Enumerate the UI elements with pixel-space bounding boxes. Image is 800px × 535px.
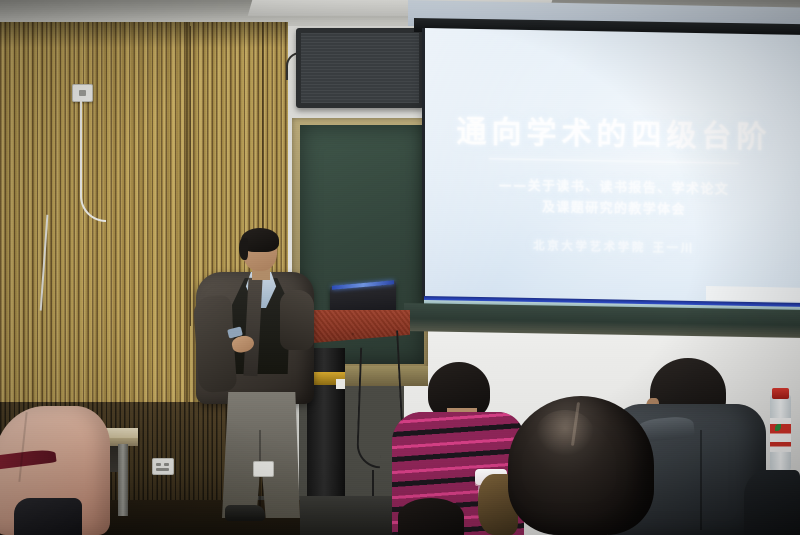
water-bottle-cap: [772, 388, 789, 399]
av-cable-1: [356, 348, 384, 469]
presenter-shoe: [225, 505, 265, 521]
podium-label-tag: [336, 379, 345, 389]
slat-wall-top-shadow: [0, 22, 288, 48]
student-desk-leg: [118, 444, 128, 516]
audience-partial-head-bottom: [398, 498, 464, 535]
floor-power-box: [253, 461, 274, 477]
slide-title-underline: [489, 158, 739, 164]
audience-partial-shoulder-bottom-right: [744, 470, 800, 535]
projection-screen: 通向学术的四级台阶 ——关于读书、读书报告、学术论文 及课题研究的教学体会 北京…: [422, 28, 800, 307]
slide-title: 通向学术的四级台阶: [457, 107, 772, 157]
outlet-slot: [156, 468, 169, 471]
slide-subtitle: ——关于读书、读书报告、学术论文 及课题研究的教学体会: [499, 175, 729, 222]
presenter-hair-sideburn: [239, 238, 248, 260]
speaker-grill: [301, 33, 419, 103]
slide-content: 通向学术的四级台阶 ——关于读书、读书报告、学术论文 及课题研究的教学体会 北京…: [425, 28, 800, 307]
hanging-white-cable-lower: [40, 215, 87, 314]
outlet-slot: [164, 463, 169, 466]
slat-wall-crack: [190, 26, 191, 326]
student-pink-coat-bag: [14, 498, 82, 535]
slide-subtitle-line-2: 及课题研究的教学体会: [499, 197, 729, 223]
presenter-left-arm: [193, 295, 238, 393]
slide-author: 北京大学艺术学院 王一川: [533, 237, 695, 256]
outlet-hole: [79, 90, 86, 96]
audience-center-hair-highlight: [536, 410, 594, 456]
presenter-right-arm: [280, 290, 314, 350]
wall-power-outlet-low: [152, 458, 174, 475]
wall-mounted-speaker-panel: [296, 28, 424, 108]
lecture-hall-photo: 通向学术的四级台阶 ——关于读书、读书报告、学术论文 及课题研究的教学体会 北京…: [0, 0, 800, 535]
outlet-slot: [156, 463, 161, 466]
hanging-white-cable: [80, 100, 106, 222]
screen-white-patch: [706, 286, 800, 302]
audience-right-jacket-seam: [700, 430, 702, 530]
